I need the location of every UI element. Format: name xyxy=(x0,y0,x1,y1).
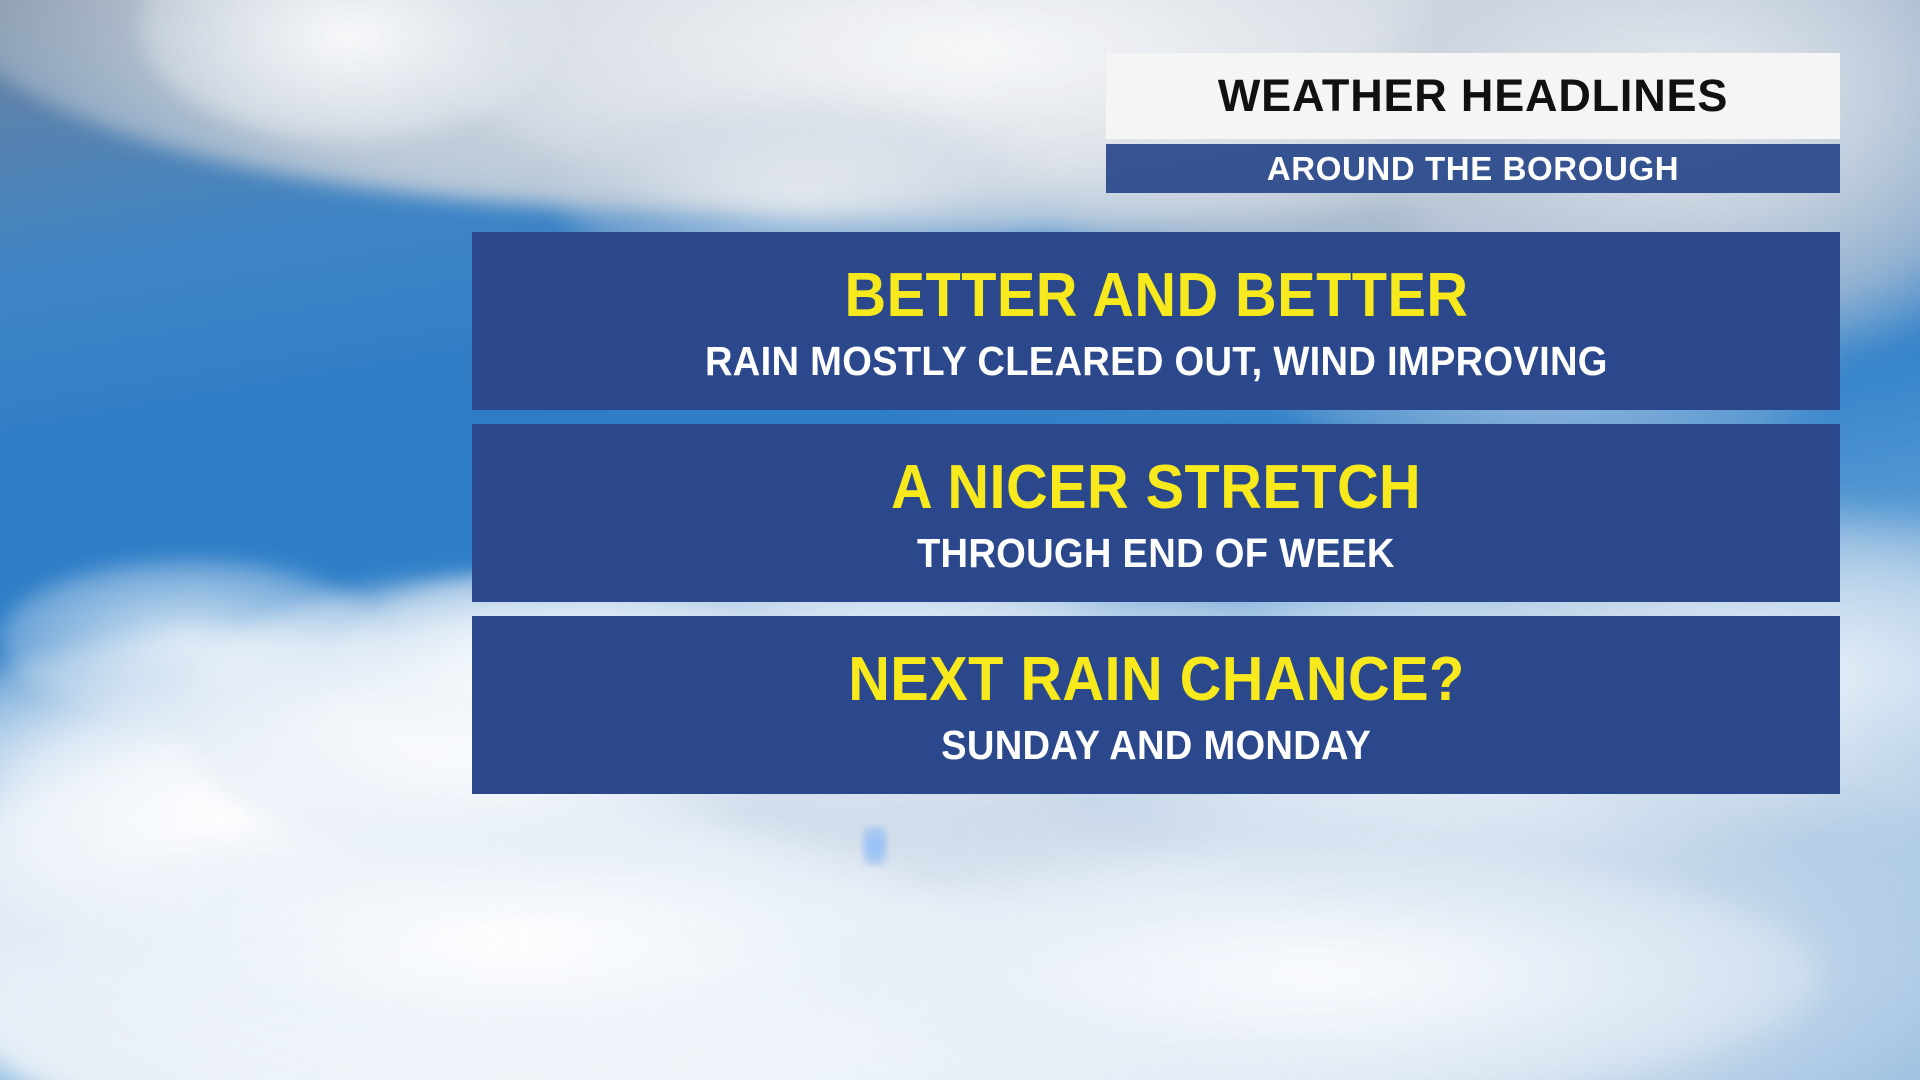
headline-card-1: BETTER AND BETTER RAIN MOSTLY CLEARED OU… xyxy=(472,232,1840,410)
weather-graphic-stage: WEATHER HEADLINES AROUND THE BOROUGH BET… xyxy=(0,0,1920,1080)
headline-2-main: A NICER STRETCH xyxy=(891,457,1421,519)
headline-list: BETTER AND BETTER RAIN MOSTLY CLEARED OU… xyxy=(472,232,1840,794)
headline-1-sub: RAIN MOSTLY CLEARED OUT, WIND IMPROVING xyxy=(705,341,1608,382)
headline-1-main: BETTER AND BETTER xyxy=(844,265,1468,327)
headline-3-main: NEXT RAIN CHANCE? xyxy=(848,649,1465,711)
weather-headlines-subtitle-bar: AROUND THE BOROUGH xyxy=(1106,144,1840,193)
page-title: WEATHER HEADLINES xyxy=(1218,70,1728,122)
headline-2-sub: THROUGH END OF WEEK xyxy=(917,533,1395,574)
headline-3-sub: SUNDAY AND MONDAY xyxy=(941,725,1371,766)
weather-headlines-title-bar: WEATHER HEADLINES xyxy=(1106,53,1840,139)
headline-card-3: NEXT RAIN CHANCE? SUNDAY AND MONDAY xyxy=(472,616,1840,794)
headline-card-2: A NICER STRETCH THROUGH END OF WEEK xyxy=(472,424,1840,602)
page-subtitle: AROUND THE BOROUGH xyxy=(1267,150,1679,188)
